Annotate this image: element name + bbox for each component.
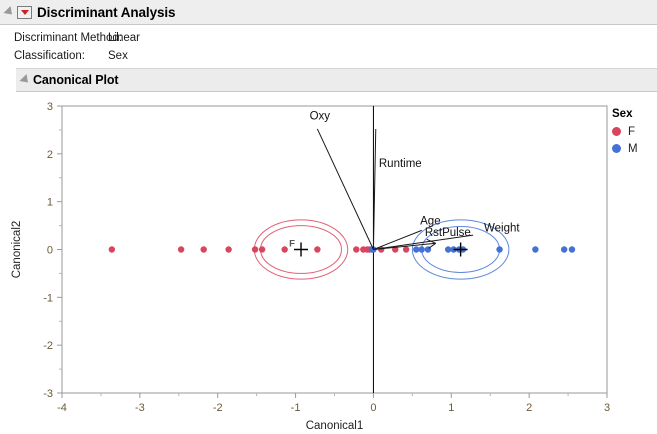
biplot-ray-label-oxy: Oxy bbox=[310, 110, 331, 122]
data-point-m[interactable] bbox=[496, 246, 502, 252]
data-point-m[interactable] bbox=[413, 246, 419, 252]
biplot-ray-label-rstpulse: RstPulse bbox=[425, 227, 471, 239]
data-point-m[interactable] bbox=[445, 246, 451, 252]
triangle-down-icon[interactable] bbox=[19, 74, 31, 86]
y-tick-label: -3 bbox=[43, 388, 53, 400]
x-tick-label: 0 bbox=[370, 402, 376, 414]
data-point-f[interactable] bbox=[403, 246, 409, 252]
y-tick-label: 3 bbox=[47, 101, 53, 113]
x-tick-label: 3 bbox=[604, 402, 610, 414]
data-point-f[interactable] bbox=[353, 246, 359, 252]
legend-item-f[interactable]: F bbox=[612, 124, 657, 139]
triangle-down-icon[interactable] bbox=[3, 6, 15, 18]
legend-swatch-f bbox=[612, 127, 621, 136]
discriminant-analysis-header[interactable]: Discriminant Analysis bbox=[0, 0, 657, 25]
data-point-f[interactable] bbox=[259, 246, 265, 252]
legend-swatch-m bbox=[612, 144, 621, 153]
legend-title: Sex bbox=[612, 108, 657, 120]
y-tick-label: 0 bbox=[47, 245, 53, 257]
biplot-ray-label-age: Age bbox=[420, 216, 440, 228]
canonical-plot-area: -4-3-2-10123-3-2-10123Canonical1Canonica… bbox=[0, 92, 657, 434]
data-point-m[interactable] bbox=[569, 246, 575, 252]
discriminant-method-value: Linear bbox=[108, 32, 140, 44]
legend-label-f: F bbox=[628, 126, 635, 138]
data-point-f[interactable] bbox=[225, 246, 231, 252]
x-tick-label: -4 bbox=[57, 402, 67, 414]
centroid-label-f: F bbox=[289, 239, 295, 250]
biplot-ray-label-runtime: Runtime bbox=[379, 158, 422, 170]
biplot-ray-label-weight: Weight bbox=[484, 222, 520, 234]
data-point-m[interactable] bbox=[561, 246, 567, 252]
x-axis-label: Canonical1 bbox=[306, 420, 364, 432]
x-tick-label: -2 bbox=[213, 402, 223, 414]
x-tick-label: -3 bbox=[135, 402, 145, 414]
data-point-f[interactable] bbox=[314, 246, 320, 252]
data-point-f[interactable] bbox=[201, 246, 207, 252]
red-triangle-menu-icon[interactable] bbox=[17, 6, 32, 19]
y-tick-label: 1 bbox=[47, 197, 53, 209]
canonical-plot-svg[interactable]: -4-3-2-10123-3-2-10123Canonical1Canonica… bbox=[0, 92, 657, 434]
legend: Sex F M bbox=[612, 108, 657, 158]
plot-frame bbox=[62, 106, 607, 393]
legend-label-m: M bbox=[628, 143, 638, 155]
data-point-f[interactable] bbox=[109, 246, 115, 252]
data-point-m[interactable] bbox=[532, 246, 538, 252]
y-tick-label: 2 bbox=[47, 149, 53, 161]
y-axis-label: Canonical2 bbox=[11, 221, 23, 279]
x-tick-label: -1 bbox=[291, 402, 301, 414]
x-tick-label: 2 bbox=[526, 402, 532, 414]
classification-value: Sex bbox=[108, 50, 128, 62]
data-point-f[interactable] bbox=[252, 246, 258, 252]
canonical-plot-header[interactable]: Canonical Plot bbox=[16, 68, 657, 92]
panel-title: Discriminant Analysis bbox=[37, 5, 175, 20]
y-tick-label: -2 bbox=[43, 340, 53, 352]
classification-label: Classification: bbox=[14, 50, 85, 62]
x-tick-label: 1 bbox=[448, 402, 454, 414]
y-tick-label: -1 bbox=[43, 292, 53, 304]
legend-item-m[interactable]: M bbox=[612, 141, 657, 156]
data-point-f[interactable] bbox=[178, 246, 184, 252]
data-point-f[interactable] bbox=[281, 246, 287, 252]
data-point-m[interactable] bbox=[419, 246, 425, 252]
subpanel-title: Canonical Plot bbox=[33, 73, 118, 87]
discriminant-method-label: Discriminant Method: bbox=[14, 32, 122, 44]
